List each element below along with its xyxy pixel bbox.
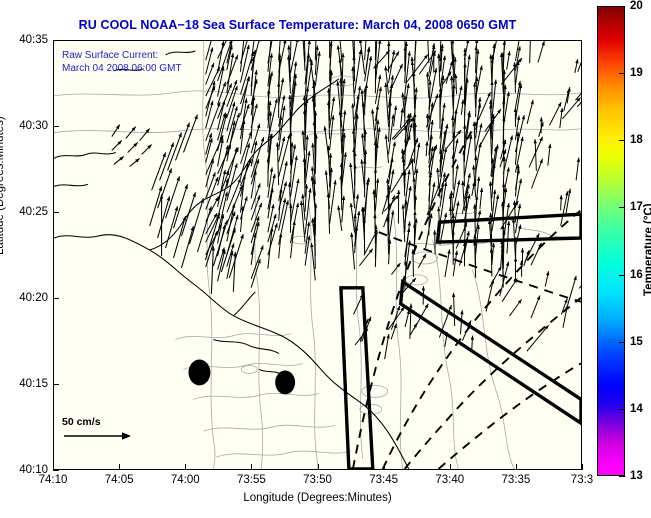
current-vector	[350, 163, 354, 208]
vector-scale-key: 50 cm/s	[62, 416, 172, 447]
current-vector	[251, 203, 261, 232]
colorbar-tick-label: 14	[630, 403, 643, 415]
current-vector	[366, 47, 369, 69]
current-vector	[575, 59, 578, 73]
x-tick-mark	[53, 464, 54, 470]
current-vector	[486, 279, 493, 311]
current-vector	[579, 272, 581, 288]
current-vector	[391, 324, 396, 340]
current-vector	[562, 98, 580, 119]
colorbar-tick-mark	[619, 476, 625, 477]
current-vector	[502, 279, 517, 302]
arrow-right-icon	[62, 430, 134, 442]
current-vector	[456, 74, 457, 94]
current-vector	[509, 299, 521, 316]
current-vector	[476, 195, 477, 219]
current-vector	[268, 204, 274, 232]
current-vector	[531, 296, 540, 319]
current-vector	[330, 97, 335, 128]
current-vector	[578, 41, 581, 72]
current-vector	[453, 251, 457, 277]
y-tick-mark	[53, 212, 59, 213]
current-vector	[550, 102, 562, 125]
current-vector	[385, 334, 389, 359]
current-vector	[545, 271, 548, 286]
current-vector	[527, 100, 533, 124]
x-axis-label: Longitude (Degrees:Minutes)	[53, 492, 582, 504]
current-vector	[453, 86, 462, 127]
colorbar-tick-label: 18	[630, 134, 643, 146]
current-vector	[351, 233, 354, 270]
x-tick-label: 73:3	[571, 474, 593, 486]
colorbar-tick-mark	[619, 342, 625, 343]
current-vector	[427, 72, 428, 98]
x-tick-label: 73:35	[501, 474, 530, 486]
current-vector	[365, 41, 367, 60]
colorbar-tick-label: 19	[630, 67, 643, 79]
current-vector	[384, 195, 399, 211]
current-vector	[406, 55, 428, 83]
current-vector	[475, 83, 476, 109]
current-vector	[418, 254, 426, 268]
y-tick-mark	[53, 40, 59, 41]
current-vector	[450, 194, 451, 221]
current-vector	[530, 41, 531, 63]
current-vector	[400, 108, 402, 128]
current-vector	[405, 170, 410, 208]
current-vector	[328, 146, 329, 176]
x-tick-label: 73:55	[237, 474, 266, 486]
colorbar-tick-label: 13	[630, 470, 643, 482]
current-vector	[240, 98, 246, 139]
x-tick-mark	[582, 464, 583, 470]
y-tick-mark	[53, 470, 59, 471]
current-vector	[427, 41, 429, 63]
colorbar-tick-mark	[619, 73, 625, 74]
current-vector	[405, 310, 409, 327]
colorbar-tick-label: 15	[630, 336, 643, 348]
current-vector	[426, 141, 427, 156]
current-vector	[386, 135, 389, 163]
current-vector	[472, 336, 473, 351]
colorbar-tick-mark	[619, 409, 625, 410]
current-vector	[372, 109, 375, 142]
x-tick-mark	[119, 464, 120, 470]
current-vector	[474, 122, 475, 162]
x-tick-label: 73:40	[435, 474, 464, 486]
traffic-separation-boundaries	[353, 123, 581, 469]
current-vector	[206, 135, 223, 174]
colorbar-tick-label: 20	[630, 0, 643, 12]
y-tick-label: 40:20	[19, 292, 48, 304]
current-vector	[568, 276, 577, 306]
current-vector	[441, 47, 442, 71]
current-vector	[206, 41, 217, 60]
current-vector	[515, 41, 521, 61]
colorbar-tick-mark	[619, 207, 625, 208]
current-vector	[394, 106, 396, 127]
colorbar-tick-label: 17	[630, 201, 643, 213]
current-vector	[429, 80, 430, 120]
current-vector	[464, 135, 471, 177]
current-vector	[382, 194, 388, 215]
chart-title: RU COOL NOAA−18 Sea Surface Temperature:…	[0, 18, 595, 32]
current-vector	[291, 41, 292, 60]
current-vector	[560, 108, 562, 128]
current-vector	[414, 304, 428, 329]
current-vector	[472, 182, 475, 196]
shipping-lane-corridors	[341, 214, 581, 469]
current-vector	[535, 139, 536, 171]
colorbar-tick-mark	[619, 275, 625, 276]
plot-area[interactable]: Raw Surface Current: March 04 2008 06:00…	[53, 40, 582, 470]
map-canvas	[54, 41, 581, 469]
current-vector	[575, 80, 581, 101]
current-vector	[507, 51, 510, 70]
current-vector	[464, 150, 465, 186]
x-tick-label: 73:50	[303, 474, 332, 486]
current-vector	[453, 180, 459, 211]
current-vector	[218, 170, 226, 207]
y-tick-mark	[53, 384, 59, 385]
current-vector	[566, 189, 571, 216]
x-tick-mark	[185, 464, 186, 470]
colorbar[interactable]	[597, 6, 625, 476]
colorbar-tick-mark	[619, 140, 625, 141]
current-vector	[353, 294, 363, 315]
current-vector	[330, 115, 334, 150]
colorbar-tick-mark	[619, 6, 625, 7]
current-vector	[538, 41, 544, 62]
current-vector	[355, 86, 360, 131]
current-vector	[338, 206, 342, 231]
x-tick-label: 74:05	[105, 474, 134, 486]
current-vector	[405, 126, 406, 166]
surface-current-vectors	[112, 115, 244, 294]
current-vector	[414, 177, 415, 209]
current-vector	[360, 41, 364, 74]
y-tick-label: 40:15	[19, 378, 48, 390]
station-marker-1	[188, 360, 210, 386]
current-vector	[314, 180, 315, 221]
current-vector	[548, 144, 550, 166]
vector-scale-label: 50 cm/s	[62, 416, 172, 428]
current-vector	[480, 188, 482, 209]
current-vector	[291, 74, 296, 116]
y-axis-label: Latitude (Degrees:Minutes)	[0, 116, 6, 255]
x-tick-mark	[251, 464, 252, 470]
current-vector	[415, 41, 416, 73]
current-vector	[440, 88, 441, 129]
y-tick-mark	[53, 298, 59, 299]
current-vector	[445, 249, 450, 277]
current-vector	[442, 182, 443, 199]
current-vector	[355, 165, 356, 199]
current-vector	[375, 87, 381, 121]
current-vector	[291, 41, 298, 73]
x-tick-label: 73:45	[369, 474, 398, 486]
current-vector	[403, 205, 405, 242]
current-vector	[391, 263, 400, 275]
current-vector	[576, 158, 579, 181]
current-vector	[489, 266, 501, 287]
y-tick-label: 40:35	[19, 34, 48, 46]
figure-canvas: RU COOL NOAA−18 Sea Surface Temperature:…	[0, 0, 651, 518]
current-vector	[507, 221, 509, 254]
station-marker-2	[275, 370, 295, 394]
current-vector	[453, 293, 454, 326]
current-vector	[354, 56, 355, 81]
current-vector	[525, 233, 539, 261]
current-vector	[476, 46, 477, 73]
current-vector	[291, 179, 299, 222]
current-vector	[389, 203, 390, 234]
y-tick-label: 40:25	[19, 206, 48, 218]
current-vector	[328, 193, 329, 234]
y-tick-label: 40:30	[19, 120, 48, 132]
current-vector	[561, 195, 562, 210]
x-tick-mark	[450, 464, 451, 470]
colorbar-label: Temperature (°C)	[643, 203, 651, 296]
x-tick-mark	[384, 464, 385, 470]
colorbar-tick-label: 16	[630, 269, 643, 281]
current-vector	[414, 72, 415, 110]
current-vector	[351, 203, 355, 233]
x-tick-label: 74:00	[171, 474, 200, 486]
current-vector	[564, 89, 569, 111]
current-vector	[389, 50, 395, 83]
x-tick-label: 74:10	[39, 474, 68, 486]
current-vector	[461, 99, 463, 114]
x-tick-mark	[318, 464, 319, 470]
current-vector	[531, 159, 542, 189]
x-tick-mark	[516, 464, 517, 470]
y-tick-mark	[53, 126, 59, 127]
